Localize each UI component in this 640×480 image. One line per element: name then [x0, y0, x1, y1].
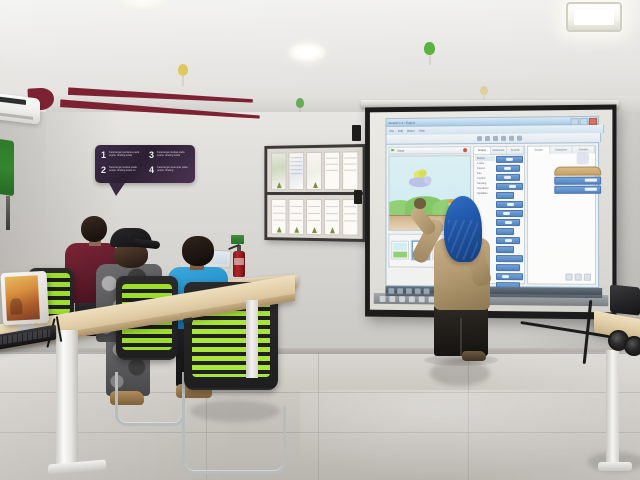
poster-number: 2 [101, 166, 106, 175]
stop-button-icon[interactable] [463, 148, 467, 152]
menu-help[interactable]: Help [419, 129, 425, 133]
wall-strip [6, 196, 10, 230]
av-equipment-box [610, 284, 640, 315]
poster-text: Keterangan pertama pada poster dinding k… [109, 151, 143, 157]
classroom-photo-scene: 1 Keterangan pertama pada poster dinding… [0, 0, 640, 480]
poster-item-2: 2 Keterangan kedua pada poster dinding k… [101, 166, 143, 175]
speaker-right [624, 336, 640, 356]
screen-mount-tab [352, 125, 361, 141]
fluorescent-panel-right-icon [566, 2, 622, 32]
os-search-icon[interactable] [389, 296, 395, 302]
script-tab-costumes[interactable]: Costumes [550, 146, 572, 153]
board-sheet [306, 199, 322, 235]
os-start-icon[interactable] [380, 295, 386, 301]
board-sheet [324, 199, 340, 235]
close-icon [589, 118, 597, 125]
desk-leg-back [246, 300, 258, 378]
script-block-move[interactable] [554, 186, 601, 194]
hat-block-when-clicked[interactable] [554, 166, 601, 175]
poster-item-1: 1 Keterangan pertama pada poster dinding… [101, 151, 143, 160]
poster-text: Keterangan kedua pada poster dinding kel… [109, 166, 143, 172]
palette-block[interactable] [496, 156, 523, 163]
bulletin-board [264, 144, 365, 242]
sprite-preview-icon [577, 152, 589, 164]
poster-item-3: 3 Keterangan ketiga pada poster dinding … [149, 151, 191, 160]
air-conditioner-unit [0, 93, 40, 124]
balloon-yellow-icon [480, 86, 488, 95]
script-tab-scripts[interactable]: Scripts [528, 147, 550, 154]
script-area[interactable]: Scripts Costumes Sounds [527, 145, 596, 285]
palette-block[interactable] [496, 246, 514, 253]
tab-costumes[interactable]: Costumes [491, 147, 508, 154]
board-sheet [306, 152, 322, 190]
desk-leg-front [56, 330, 78, 470]
desk-right-leg [606, 350, 619, 470]
palette-block[interactable] [496, 165, 520, 172]
board-sheet [342, 199, 358, 236]
palette-block[interactable] [496, 174, 520, 181]
maximize-icon [580, 118, 588, 125]
board-row-bottom [269, 197, 360, 238]
palette-block[interactable] [496, 219, 520, 226]
zoom-in-icon [584, 274, 591, 281]
script-zoom-controls[interactable] [565, 274, 590, 281]
maroon-swoosh-decal [28, 82, 258, 130]
tab-scripts[interactable]: Scripts [474, 147, 491, 154]
desk-right-foot [598, 462, 632, 471]
green-wall-fixture [0, 139, 14, 196]
palette-block[interactable] [496, 183, 523, 190]
palette-tabs[interactable]: Scripts Costumes Sounds [474, 147, 524, 155]
flying-sprite-icon[interactable] [407, 172, 433, 190]
board-sheet [288, 152, 304, 190]
board-sheet [288, 199, 304, 235]
palette-block[interactable] [496, 201, 523, 208]
palette-block[interactable] [496, 273, 523, 280]
block-categories[interactable]: Motion Looks Sound Pen Control Sensing O… [475, 156, 495, 196]
app-title: Scratch 1.4 - Project [388, 120, 415, 124]
zoom-reset-icon [575, 274, 582, 281]
recessed-downlight-center-icon [288, 44, 326, 61]
board-row-top [269, 149, 360, 192]
balloon-green-icon [424, 42, 435, 55]
poster-text: Keterangan keempat pada poster dinding [157, 166, 191, 172]
poster-text: Keterangan ketiga pada poster dinding ke… [157, 151, 191, 157]
minimize-icon [571, 118, 579, 125]
palette-block[interactable] [496, 237, 520, 244]
script-block-stack[interactable] [554, 166, 601, 193]
palette-block[interactable] [496, 255, 523, 262]
palette-block[interactable] [496, 210, 523, 217]
crt-monitor[interactable] [0, 271, 49, 333]
balloon-yellow-icon [178, 64, 188, 76]
pointing-hand-icon [414, 198, 426, 209]
script-block-forever[interactable] [554, 177, 601, 185]
safety-sign [231, 235, 244, 244]
green-flag-icon[interactable] [391, 149, 395, 153]
palette-block[interactable] [496, 264, 520, 271]
monitor-screen [5, 275, 40, 321]
numbered-speech-bubble-poster: 1 Keterangan pertama pada poster dinding… [95, 145, 195, 183]
presenter-hijab [418, 196, 494, 364]
menu-edit[interactable]: Edit [398, 129, 403, 133]
stage-title: Stage [397, 149, 404, 153]
board-sheet [271, 199, 286, 235]
board-sheet [324, 152, 340, 190]
balloon-green-icon [296, 98, 304, 108]
poster-item-4: 4 Keterangan keempat pada poster dinding [149, 166, 191, 175]
menu-share[interactable]: Share [407, 129, 415, 133]
palette-block[interactable] [496, 228, 514, 235]
fire-extinguisher-icon [233, 245, 245, 277]
poster-number: 3 [149, 151, 154, 160]
stage-header: Stage [388, 146, 471, 155]
os-browser-icon[interactable] [409, 296, 415, 302]
floor-light-sheen [300, 390, 640, 480]
sprite-thumbnail-stage[interactable] [391, 241, 409, 260]
poster-number: 4 [149, 166, 154, 175]
palette-blocks[interactable] [496, 156, 523, 282]
board-sheet [342, 151, 358, 190]
screen-mount-tab [354, 190, 362, 204]
tab-sounds[interactable]: Sounds [507, 147, 524, 154]
hijab-headscarf [444, 196, 482, 262]
board-sheet [271, 152, 286, 190]
palette-block[interactable] [496, 192, 514, 199]
poster-number: 1 [101, 151, 106, 160]
zoom-out-icon [565, 274, 572, 281]
board-divider [267, 192, 362, 195]
menu-file[interactable]: File [389, 129, 394, 133]
os-folder-icon[interactable] [399, 296, 405, 302]
